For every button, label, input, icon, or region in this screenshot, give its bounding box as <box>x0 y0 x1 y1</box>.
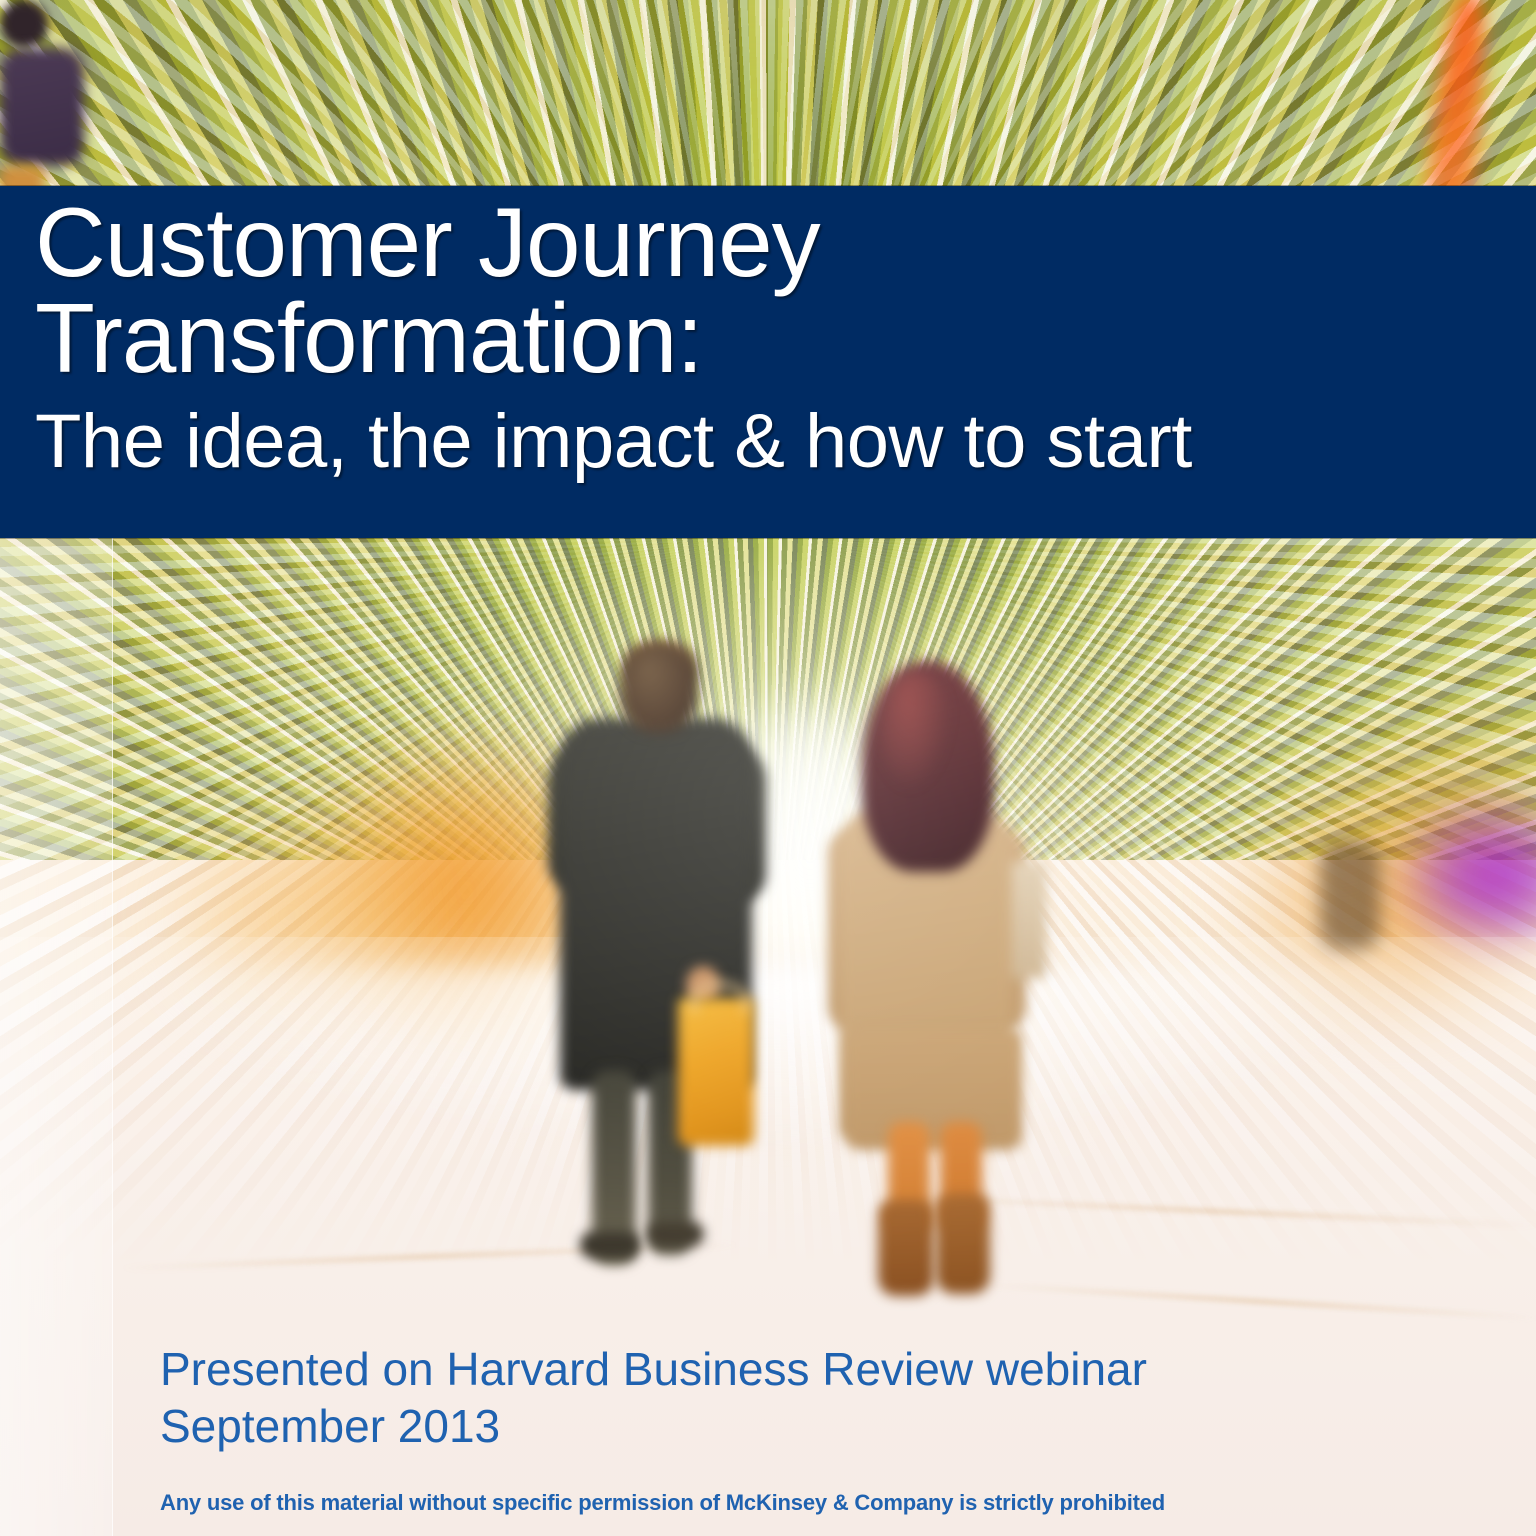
man-shopping-bag <box>678 998 754 1146</box>
woman-left-boot <box>878 1200 934 1296</box>
man-head <box>620 645 698 733</box>
child-head <box>0 0 48 48</box>
presentation-credit: Presented on Harvard Business Review web… <box>160 1341 1147 1455</box>
distant-figure <box>1320 840 1380 950</box>
page-subtitle: The idea, the impact & how to start <box>35 402 1506 482</box>
woman-coat-hem <box>846 1030 1022 1150</box>
presented-on-label: Presented on Harvard Business Review web… <box>160 1343 1147 1395</box>
copyright-disclaimer: Any use of this material without specifi… <box>160 1490 1165 1516</box>
man-left-shoe <box>580 1232 640 1258</box>
child-body <box>0 48 84 166</box>
woman-right-boot <box>936 1194 990 1294</box>
page-title: Customer Journey Transformation: <box>35 194 1506 386</box>
title-banner: Customer Journey Transformation: The ide… <box>0 186 1536 538</box>
presentation-date: September 2013 <box>160 1398 1147 1455</box>
man-right-shoe <box>648 1222 704 1246</box>
glass-panel-seam <box>0 538 113 1536</box>
title-line-2: Transformation: <box>35 283 703 393</box>
woman-hair-highlight <box>880 672 952 792</box>
presentation-slide: Customer Journey Transformation: The ide… <box>0 0 1536 1536</box>
title-line-1: Customer Journey <box>35 187 820 297</box>
title-block: Customer Journey Transformation: The ide… <box>35 194 1506 482</box>
man-shopping-bag-handle <box>692 982 748 1013</box>
floor-light-sheen <box>123 968 1413 1148</box>
